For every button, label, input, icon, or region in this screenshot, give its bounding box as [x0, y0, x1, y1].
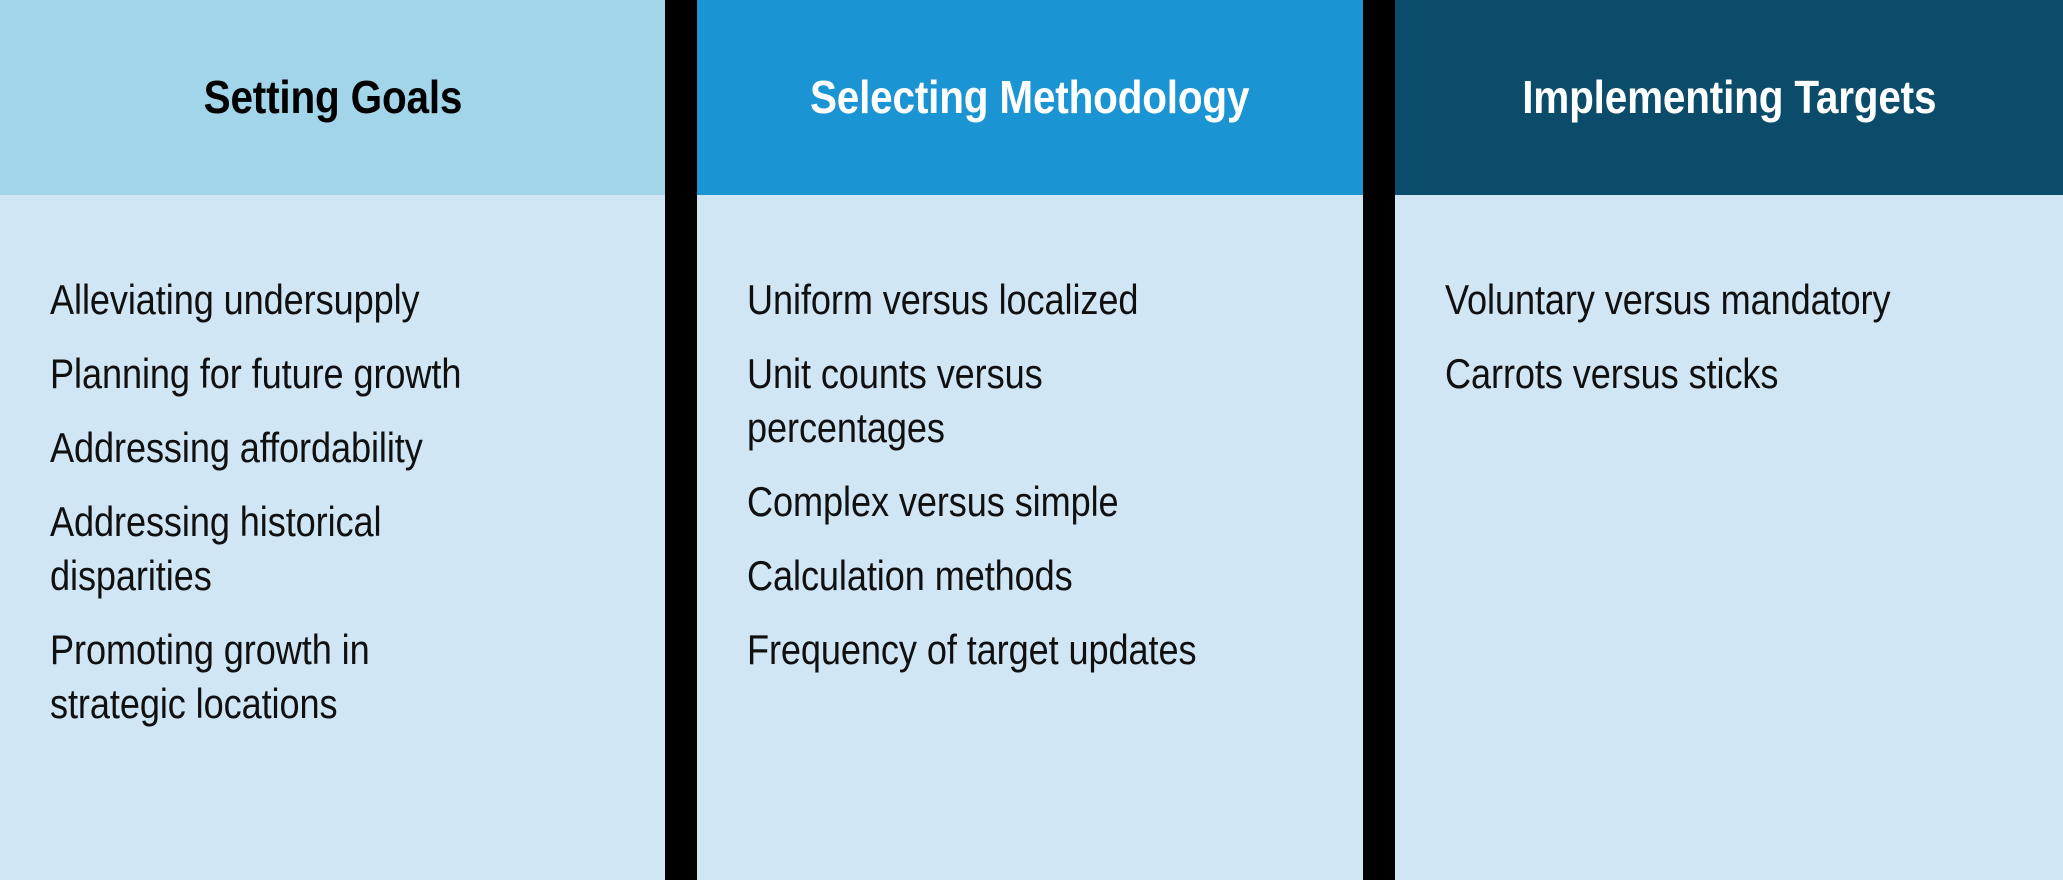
list-item: Carrots versus sticks [1445, 347, 1901, 401]
column-title: Selecting Methodology [810, 72, 1249, 123]
three-column-slide: Setting Goals Alleviating undersupply Pl… [0, 0, 2063, 880]
bullet-list-selecting-methodology: Uniform versus localized Unit counts ver… [747, 273, 1323, 677]
list-item: Complex versus simple [747, 475, 1203, 529]
list-item: Calculation methods [747, 549, 1203, 603]
list-item: Voluntary versus mandatory [1445, 273, 1901, 327]
bullet-list-implementing-targets: Voluntary versus mandatory Carrots versu… [1445, 273, 2023, 401]
column-body-selecting-methodology: Uniform versus localized Unit counts ver… [697, 195, 1363, 880]
list-item: Uniform versus localized [747, 273, 1203, 327]
column-title: Setting Goals [203, 72, 462, 123]
list-item: Promoting growth in strategic locations [50, 623, 506, 731]
column-body-setting-goals: Alleviating undersupply Planning for fut… [0, 195, 665, 880]
column-setting-goals: Setting Goals Alleviating undersupply Pl… [0, 0, 665, 880]
column-header-implementing-targets: Implementing Targets [1395, 0, 2063, 195]
list-item: Addressing historical disparities [50, 495, 506, 603]
list-item: Addressing affordability [50, 421, 506, 475]
list-item: Planning for future growth [50, 347, 506, 401]
column-title: Implementing Targets [1522, 72, 1936, 123]
bullet-list-setting-goals: Alleviating undersupply Planning for fut… [50, 273, 625, 731]
column-implementing-targets: Implementing Targets Voluntary versus ma… [1395, 0, 2063, 880]
list-item: Frequency of target updates [747, 623, 1203, 677]
list-item: Unit counts versus percentages [747, 347, 1203, 455]
column-header-selecting-methodology: Selecting Methodology [697, 0, 1363, 195]
column-divider-2 [1363, 0, 1395, 880]
column-selecting-methodology: Selecting Methodology Uniform versus loc… [697, 0, 1363, 880]
list-item: Alleviating undersupply [50, 273, 506, 327]
column-header-setting-goals: Setting Goals [0, 0, 665, 195]
column-divider-1 [665, 0, 697, 880]
column-body-implementing-targets: Voluntary versus mandatory Carrots versu… [1395, 195, 2063, 880]
